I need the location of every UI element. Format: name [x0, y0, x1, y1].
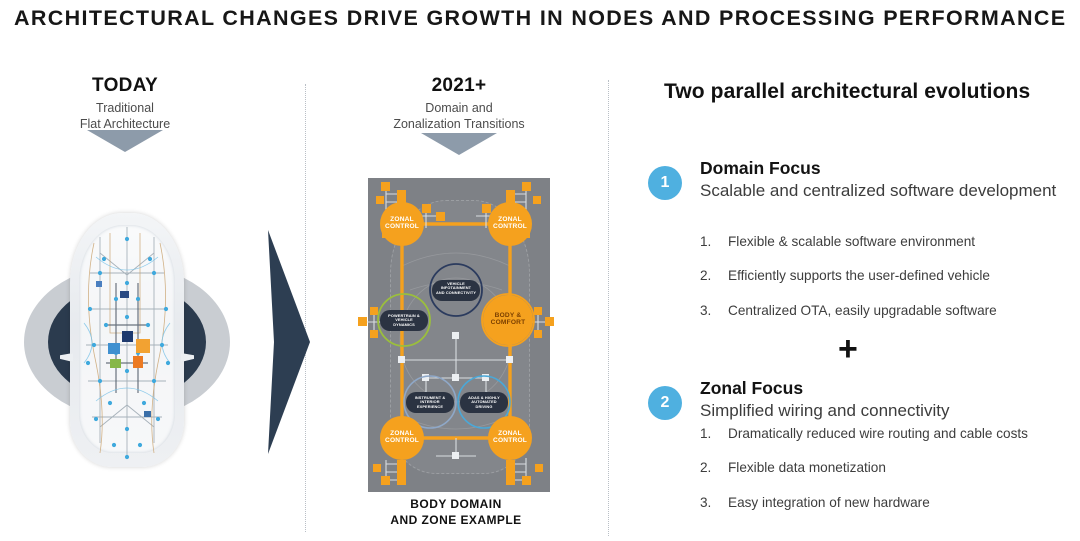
- slide-root: ARCHITECTURAL CHANGES DRIVE GROWTH IN NO…: [0, 0, 1080, 541]
- evolution-subtitle-1: Scalable and centralized software develo…: [700, 180, 1060, 203]
- list-item-text: Flexible data monetization: [728, 460, 886, 475]
- list-item-number: 3.: [700, 303, 720, 319]
- column-header-today: TODAY Traditional Flat Architecture: [14, 74, 236, 132]
- transition-arrow-icon: [268, 230, 312, 454]
- evolution-list-1: 1. Flexible & scalable software environm…: [700, 234, 1070, 337]
- wiring-harness-diagram: [70, 213, 184, 467]
- list-item: 2. Efficiently supports the user-defined…: [700, 268, 1070, 284]
- list-item-number: 2.: [700, 268, 720, 284]
- diagram-caption-line1: BODY DOMAIN: [410, 497, 501, 511]
- evolution-list-2: 1. Dramatically reduced wire routing and…: [700, 426, 1070, 529]
- down-arrow-icon-future: [421, 133, 497, 155]
- list-item-number: 2.: [700, 460, 720, 476]
- down-arrow-icon-today: [87, 130, 163, 152]
- evolution-title-1: Domain Focus: [700, 158, 821, 179]
- list-item: 1. Flexible & scalable software environm…: [700, 234, 1070, 250]
- column-header-future: 2021+ Domain and Zonalization Transition…: [352, 74, 566, 132]
- list-item-number: 3.: [700, 495, 720, 511]
- evolution-badge-1: 1: [648, 166, 682, 200]
- zonal-architecture-diagram: ZONALCONTROL ZONALCONTROL ZONALCONTROL Z…: [340, 170, 572, 500]
- column-subtitle-today-line1: Traditional: [14, 100, 236, 116]
- plus-icon: +: [838, 332, 858, 366]
- column-divider-right: [608, 80, 610, 536]
- list-item-text: Centralized OTA, easily upgradable softw…: [728, 303, 997, 318]
- list-item-text: Dramatically reduced wire routing and ca…: [728, 426, 1028, 441]
- column-title-today: TODAY: [14, 74, 236, 98]
- column-title-future: 2021+: [352, 74, 566, 98]
- evolution-badge-2: 2: [648, 386, 682, 420]
- evolution-title-2: Zonal Focus: [700, 378, 803, 399]
- page-title: ARCHITECTURAL CHANGES DRIVE GROWTH IN NO…: [14, 7, 1069, 31]
- list-item-number: 1.: [700, 234, 720, 250]
- list-item-number: 1.: [700, 426, 720, 442]
- diagram-caption-line2: AND ZONE EXAMPLE: [390, 513, 521, 527]
- column-subtitle-future-line1: Domain and: [352, 100, 566, 116]
- list-item: 1. Dramatically reduced wire routing and…: [700, 426, 1070, 442]
- list-item-text: Easy integration of new hardware: [728, 495, 930, 510]
- column-subtitle-future-line2: Zonalization Transitions: [352, 116, 566, 132]
- zonal-connections: [340, 170, 572, 500]
- list-item: 3. Easy integration of new hardware: [700, 495, 1070, 511]
- list-item-text: Flexible & scalable software environment: [728, 234, 975, 249]
- today-vehicle-illustration: [18, 205, 236, 475]
- list-item-text: Efficiently supports the user-defined ve…: [728, 268, 990, 283]
- evolution-subtitle-2: Simplified wiring and connectivity: [700, 400, 1060, 423]
- list-item: 3. Centralized OTA, easily upgradable so…: [700, 303, 1070, 319]
- diagram-caption: BODY DOMAIN AND ZONE EXAMPLE: [340, 496, 572, 528]
- evolutions-heading: Two parallel architectural evolutions: [664, 80, 1030, 104]
- list-item: 2. Flexible data monetization: [700, 460, 1070, 476]
- evolutions-panel: Two parallel architectural evolutions 1 …: [640, 70, 1070, 540]
